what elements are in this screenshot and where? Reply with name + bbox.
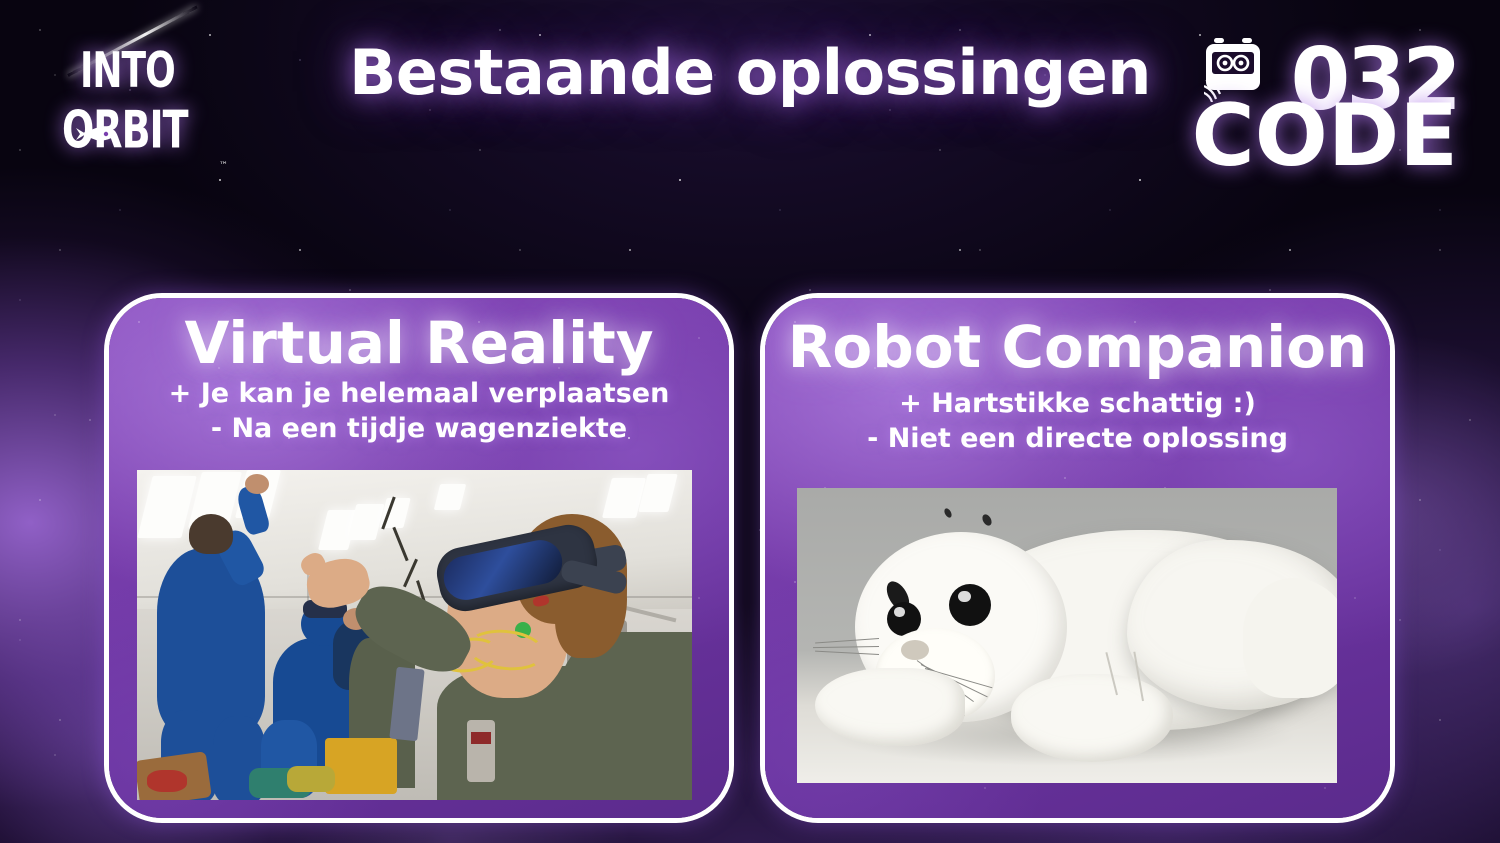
032-code-logo: 032 CODE [1178,24,1458,174]
rocket-icon [74,124,118,144]
bullet-con: - Na een tijdje wagenziekte [169,412,670,447]
card-virtual-reality[interactable]: Virtual Reality + Je kan je helemaal ver… [104,293,734,823]
photo-vr-astronauts [137,470,692,800]
card-bullets-robot-companion: + Hartstikke schattig :) - Niet een dire… [867,387,1288,456]
bullet-pro: + Hartstikke schattig :) [867,387,1288,422]
032-code-logo-line2: CODE [1192,86,1458,186]
card-bullets-virtual-reality: + Je kan je helemaal verplaatsen - Na ee… [169,377,670,446]
trademark-symbol: ™ [219,161,228,171]
card-robot-companion[interactable]: Robot Companion + Hartstikke schattig :)… [760,293,1395,823]
card-title-robot-companion: Robot Companion [788,318,1368,377]
bullet-con: - Niet een directe oplossing [867,422,1288,457]
presentation-slide: INTO ORBIT ™ Bestaande oplossingen 032 C… [0,0,1500,843]
bullet-pro: + Je kan je helemaal verplaatsen [169,377,670,412]
card-title-virtual-reality: Virtual Reality [184,314,653,373]
photo-robot-seal [797,488,1337,783]
